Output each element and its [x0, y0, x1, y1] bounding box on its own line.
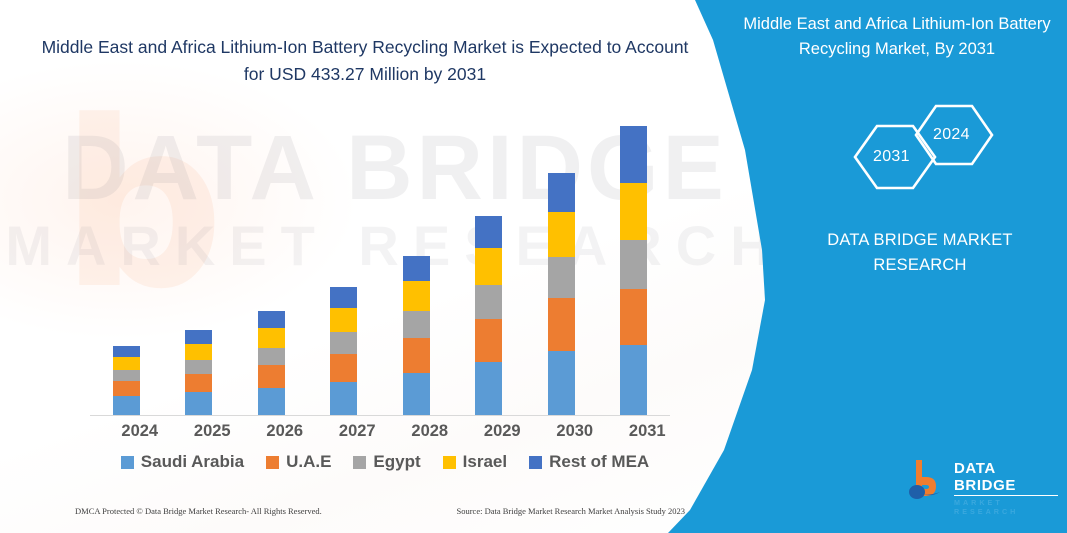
legend-item-rest-of-mea[interactable]: Rest of MEA [529, 452, 649, 472]
legend-item-saudi-arabia[interactable]: Saudi Arabia [121, 452, 244, 472]
chart-baseline [90, 415, 670, 416]
bar-segment-2027-israel [330, 308, 357, 332]
logo-subtitle: MARKET RESEARCH [954, 498, 1058, 516]
bar-segment-2029-israel [475, 248, 502, 285]
bar-segment-2028-saudi-arabia [403, 373, 430, 415]
bar-segment-2024-rest-of-mea [113, 346, 140, 357]
chart-legend: Saudi ArabiaU.A.EEgyptIsraelRest of MEA [90, 452, 680, 472]
footer-copyright: DMCA Protected © Data Bridge Market Rese… [75, 506, 322, 516]
x-axis-label-2027: 2027 [322, 422, 392, 441]
bar-2029 [475, 216, 502, 415]
bar-segment-2025-rest-of-mea [185, 330, 212, 343]
bar-segment-2031-u-a-e [620, 289, 647, 345]
legend-swatch-egypt [353, 456, 366, 469]
legend-item-egypt[interactable]: Egypt [353, 452, 420, 472]
brand-name: DATA BRIDGE MARKET RESEARCH [790, 228, 1050, 278]
bar-segment-2030-rest-of-mea [548, 173, 575, 212]
bar-segment-2029-rest-of-mea [475, 216, 502, 248]
bar-segment-2025-egypt [185, 360, 212, 374]
white-content-panel: b DATA BRIDGE MARKET RESEARCH Middle Eas… [0, 0, 790, 533]
legend-label-egypt: Egypt [373, 452, 420, 472]
footer: DMCA Protected © Data Bridge Market Rese… [75, 506, 685, 516]
legend-swatch-saudi-arabia [121, 456, 134, 469]
bar-segment-2024-israel [113, 357, 140, 370]
bar-2030 [548, 173, 575, 415]
x-axis-label-2029: 2029 [467, 422, 537, 441]
bar-segment-2024-saudi-arabia [113, 396, 140, 415]
bar-segment-2027-saudi-arabia [330, 382, 357, 415]
bar-segment-2028-israel [403, 281, 430, 311]
bar-segment-2025-israel [185, 344, 212, 360]
bar-segment-2028-u-a-e [403, 338, 430, 373]
bar-segment-2026-egypt [258, 348, 285, 365]
bar-segment-2025-u-a-e [185, 374, 212, 393]
x-axis-label-2030: 2030 [540, 422, 610, 441]
bar-2027 [330, 287, 357, 415]
bar-segment-2031-egypt [620, 240, 647, 289]
page-title: Middle East and Africa Lithium-Ion Batte… [40, 34, 690, 88]
bar-segment-2026-saudi-arabia [258, 388, 285, 415]
bar-segment-2027-egypt [330, 332, 357, 353]
bar-2025 [185, 330, 212, 415]
bar-segment-2031-saudi-arabia [620, 345, 647, 415]
x-axis-label-2028: 2028 [395, 422, 465, 441]
stacked-bar-chart [90, 120, 670, 416]
bar-segment-2027-u-a-e [330, 354, 357, 382]
bar-segment-2029-egypt [475, 285, 502, 318]
x-axis-label-2024: 2024 [105, 422, 175, 441]
bar-segment-2030-israel [548, 212, 575, 257]
legend-label-israel: Israel [463, 452, 507, 472]
bar-segment-2024-u-a-e [113, 381, 140, 396]
bar-segment-2027-rest-of-mea [330, 287, 357, 308]
bar-segment-2030-u-a-e [548, 298, 575, 351]
chart-x-axis-labels: 20242025202620272028202920302031 [90, 422, 670, 448]
legend-label-saudi-arabia: Saudi Arabia [141, 452, 244, 472]
bar-segment-2024-egypt [113, 370, 140, 381]
bar-segment-2031-israel [620, 183, 647, 240]
logo-text: DATA BRIDGE MARKET RESEARCH [954, 460, 1058, 516]
footer-source: Source: Data Bridge Market Research Mark… [456, 506, 685, 516]
x-axis-label-2031: 2031 [612, 422, 682, 441]
bar-segment-2030-saudi-arabia [548, 351, 575, 415]
bar-2028 [403, 256, 430, 415]
legend-item-israel[interactable]: Israel [443, 452, 507, 472]
hexagon-2024-label: 2024 [933, 126, 970, 144]
bar-segment-2026-israel [258, 328, 285, 347]
legend-item-u-a-e[interactable]: U.A.E [266, 452, 331, 472]
hexagon-group: 2031 2024 [833, 95, 1013, 215]
bar-2024 [113, 346, 140, 415]
bar-segment-2026-rest-of-mea [258, 311, 285, 328]
chart-plot-area [90, 122, 670, 416]
bar-segment-2025-saudi-arabia [185, 392, 212, 415]
legend-label-rest-of-mea: Rest of MEA [549, 452, 649, 472]
hexagon-svg [833, 95, 1013, 215]
bar-segment-2028-egypt [403, 311, 430, 338]
bar-segment-2031-rest-of-mea [620, 126, 647, 183]
data-bridge-logo: DATA BRIDGE MARKET RESEARCH [908, 458, 1058, 502]
bar-segment-2029-saudi-arabia [475, 362, 502, 415]
logo-title: DATA BRIDGE [954, 460, 1058, 496]
logo-mark-icon [908, 458, 952, 500]
x-axis-label-2026: 2026 [250, 422, 320, 441]
bar-2031 [620, 126, 647, 415]
bar-segment-2026-u-a-e [258, 365, 285, 388]
bar-2026 [258, 311, 285, 415]
bar-segment-2029-u-a-e [475, 319, 502, 362]
bar-segment-2028-rest-of-mea [403, 256, 430, 281]
legend-swatch-rest-of-mea [529, 456, 542, 469]
hexagon-2031-label: 2031 [873, 148, 910, 166]
bar-segment-2030-egypt [548, 257, 575, 298]
legend-label-u-a-e: U.A.E [286, 452, 331, 472]
legend-swatch-u-a-e [266, 456, 279, 469]
panel-title: Middle East and Africa Lithium-Ion Batte… [738, 12, 1056, 62]
legend-swatch-israel [443, 456, 456, 469]
x-axis-label-2025: 2025 [177, 422, 247, 441]
